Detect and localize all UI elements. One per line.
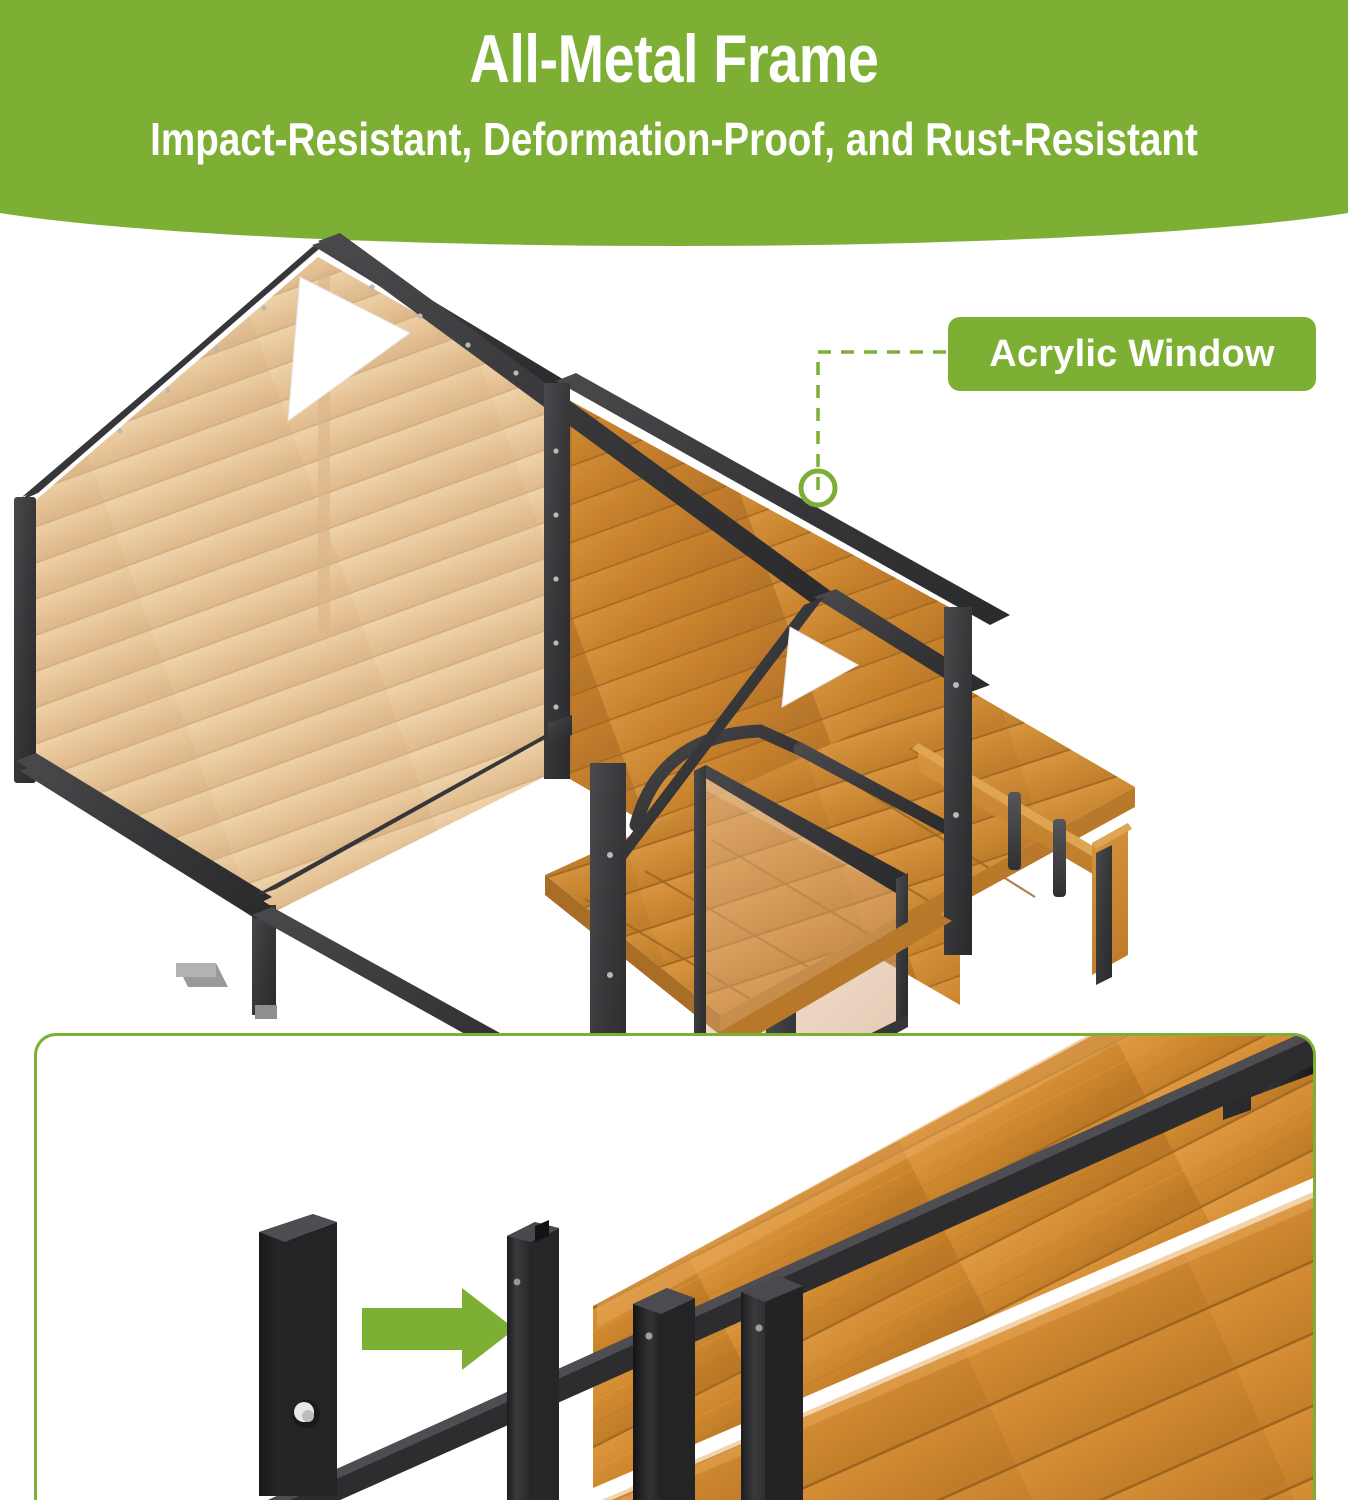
detail-panel-metal-post (34, 1033, 1316, 1500)
screw-icon (292, 1400, 320, 1428)
header-banner: All-Metal Frame Impact-Resistant, Deform… (0, 0, 1348, 250)
page-subtitle: Impact-Resistant, Deformation-Proof, and… (108, 112, 1240, 166)
metal-post-loose (259, 1214, 337, 1496)
metal-corner-post (633, 1288, 695, 1500)
post-assembly-illustration (37, 1036, 1313, 1500)
callout-label: Acrylic Window (989, 333, 1274, 376)
page-title: All-Metal Frame (121, 22, 1226, 96)
metal-post-installed (507, 1220, 559, 1500)
metal-post-on-wood (741, 1276, 803, 1500)
assembly-arrow-icon (362, 1288, 515, 1370)
callout-acrylic-window[interactable]: Acrylic Window (948, 317, 1316, 391)
leader-path (818, 352, 955, 490)
